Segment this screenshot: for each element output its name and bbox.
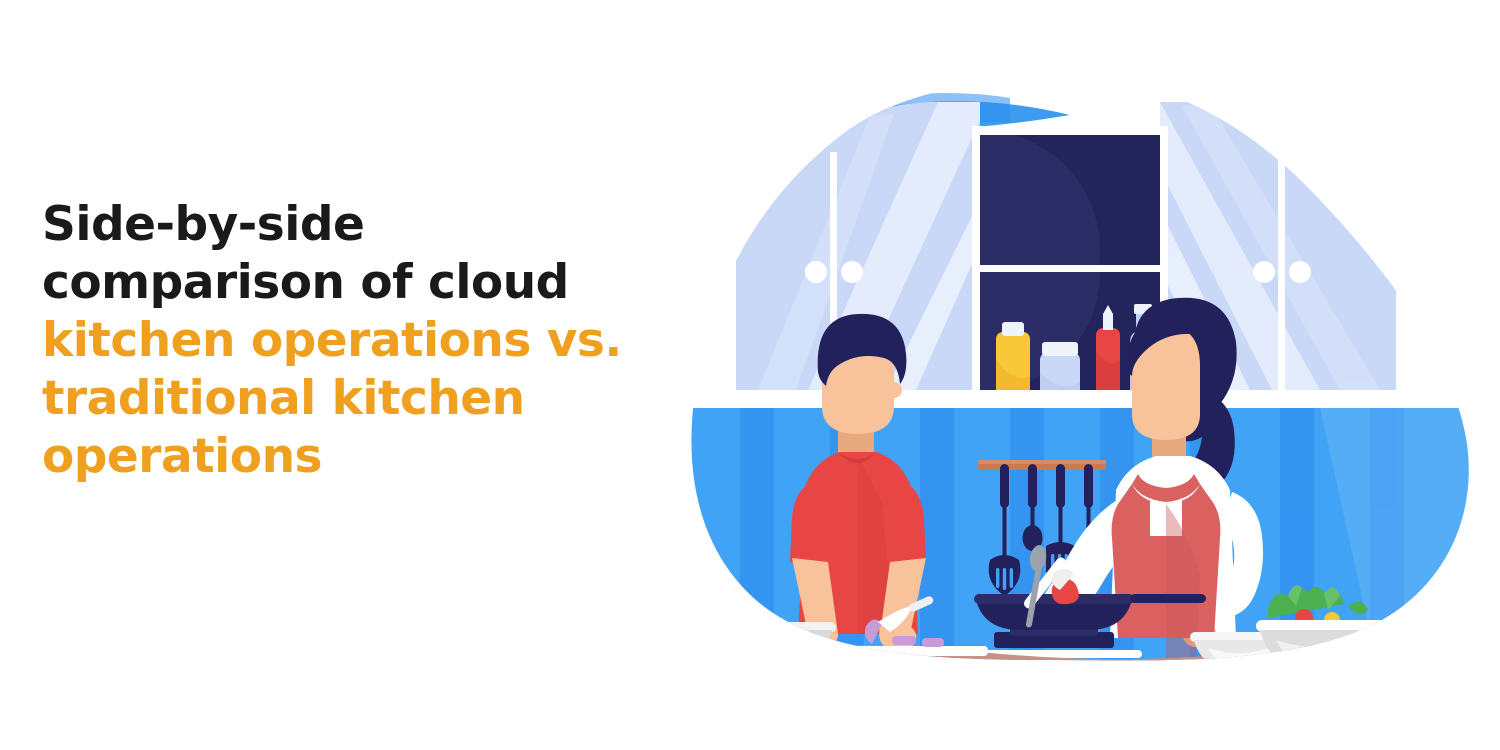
page-title: Side-by-side comparison of cloud kitchen…	[42, 196, 682, 486]
counter-front	[680, 670, 1480, 700]
frying-pan-handle	[1130, 594, 1206, 603]
headline-line-4: traditional kitchen	[42, 370, 682, 428]
headline-line-5: operations	[42, 428, 682, 486]
man-ear	[886, 382, 902, 398]
cabinet-knob-1[interactable]	[805, 261, 827, 283]
mixing-bowl-left	[722, 622, 836, 664]
counter-base	[680, 694, 1480, 700]
headline-line-3: kitchen operations vs.	[42, 312, 682, 370]
cutting-board	[818, 646, 988, 656]
scene-group	[680, 60, 1480, 700]
bowl-left-body	[726, 630, 832, 664]
yellow-mustard-jar	[996, 322, 1030, 400]
cabinet-knob-4[interactable]	[1289, 261, 1311, 283]
cabinet-knob-3[interactable]	[1253, 261, 1275, 283]
headline-line-1: Side-by-side	[42, 196, 682, 254]
kitchen-illustration	[680, 60, 1480, 700]
cabinet-knob-2[interactable]	[841, 261, 863, 283]
utensil-rail-highlight	[978, 460, 1106, 464]
poster-canvas: Side-by-side comparison of cloud kitchen…	[0, 0, 1500, 750]
salad-bowl-body	[1260, 630, 1384, 672]
cabinet-seam-right	[1278, 152, 1285, 390]
bowl-left-highlight	[742, 634, 818, 658]
frying-pan-body	[976, 600, 1132, 630]
kitchen-illustration-svg	[680, 60, 1480, 700]
headline-line-2: comparison of cloud	[42, 254, 682, 312]
